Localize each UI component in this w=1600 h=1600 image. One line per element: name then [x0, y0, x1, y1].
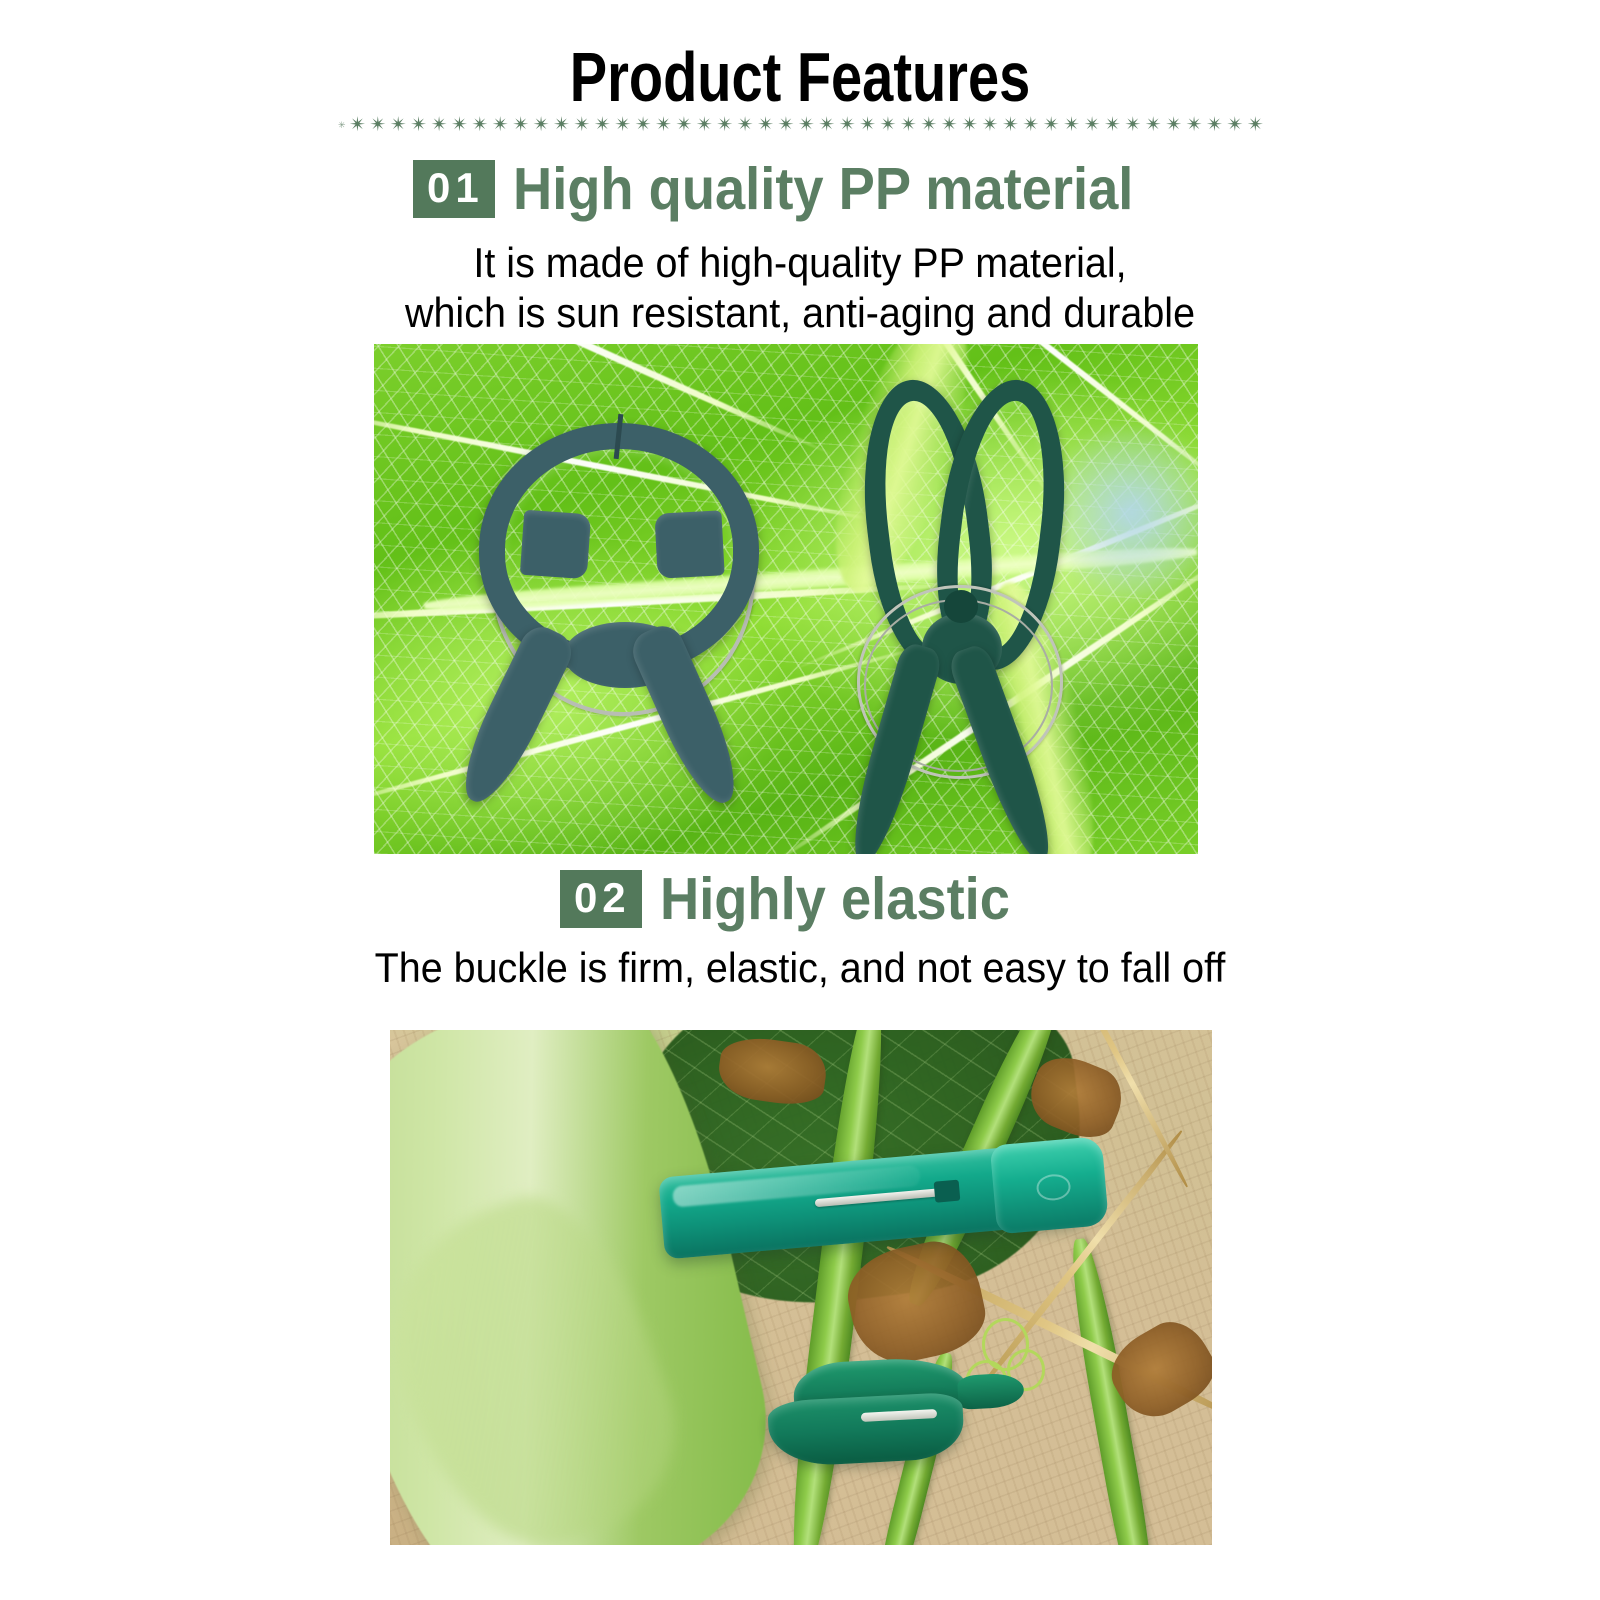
star-leaf-icon: ✴ — [1023, 115, 1040, 135]
star-leaf-icon: ✴ — [737, 115, 754, 135]
feature-01-body-line-2: which is sun resistant, anti-aging and d… — [48, 288, 1552, 338]
star-leaf-icon: ✴ — [1125, 115, 1142, 135]
feature-01-number-badge: 01 — [413, 160, 495, 218]
star-leaf-icon: ✴ — [676, 115, 693, 135]
feature-02-heading: 02 Highly elastic — [0, 868, 1600, 930]
feature-01-body-line-1: It is made of high-quality PP material, — [48, 238, 1552, 288]
closed-plant-clip — [473, 410, 778, 818]
feature-02-heading-text: Highly elastic — [660, 868, 1010, 930]
star-leaf-icon: ✴ — [1084, 115, 1101, 135]
star-leaf-icon: ✳ — [338, 115, 346, 135]
star-leaf-icon: ✴ — [574, 115, 591, 135]
clip-notch-right — [654, 511, 724, 580]
star-leaf-icon: ✴ — [900, 115, 917, 135]
feature-02-number-badge: 02 — [560, 870, 642, 928]
star-leaf-icon: ✴ — [1206, 115, 1223, 135]
green-plant-clip-lower — [765, 1354, 993, 1479]
open-plant-clip — [835, 370, 1099, 839]
star-leaf-icon: ✴ — [798, 115, 815, 135]
star-leaf-icon: ✴ — [349, 115, 366, 135]
star-leaf-icon: ✴ — [512, 115, 529, 135]
product-features-page: Product Features ✳ ✴ ✴ ✴ ✴ ✴ ✴ ✴ ✴ ✴ ✴ ✴… — [0, 0, 1600, 1600]
star-leaf-icon: ✴ — [431, 115, 448, 135]
star-leaf-icon: ✴ — [1063, 115, 1080, 135]
clip-slot — [933, 1179, 960, 1203]
star-leaf-icon: ✴ — [1186, 115, 1203, 135]
star-leaf-icon: ✴ — [533, 115, 550, 135]
star-leaf-icon: ✴ — [941, 115, 958, 135]
star-leaf-icon: ✴ — [757, 115, 774, 135]
star-leaf-icon: ✴ — [553, 115, 570, 135]
star-leaf-icon: ✴ — [778, 115, 795, 135]
clip-lower-jaw — [767, 1391, 965, 1467]
feature-02-body-line-1: The buckle is firm, elastic, and not eas… — [48, 943, 1552, 993]
feature-01-heading: 01 High quality PP material — [0, 158, 1600, 220]
feature-01-heading-text: High quality PP material — [513, 158, 1133, 220]
star-leaf-icon: ✴ — [1104, 115, 1121, 135]
star-leaf-icon: ✴ — [839, 115, 856, 135]
clips-on-vine-in-garden-photo — [390, 1030, 1212, 1545]
feature-02-body: The buckle is firm, elastic, and not eas… — [0, 943, 1600, 993]
star-leaf-icon: ✴ — [1043, 115, 1060, 135]
star-leaf-icon: ✴ — [982, 115, 999, 135]
star-leaf-icon: ✴ — [1145, 115, 1162, 135]
star-leaf-icon: ✴ — [819, 115, 836, 135]
star-leaf-icon: ✴ — [961, 115, 978, 135]
star-leaf-icon: ✴ — [492, 115, 509, 135]
star-leaf-icon: ✴ — [1247, 115, 1264, 135]
star-leaf-icon: ✴ — [1002, 115, 1019, 135]
star-leaf-icon: ✴ — [696, 115, 713, 135]
star-leaf-icon: ✴ — [614, 115, 631, 135]
star-leaf-icon: ✴ — [594, 115, 611, 135]
clip-pivot-dot — [944, 590, 978, 623]
clip-notch-left — [519, 510, 590, 580]
star-leaf-icon: ✴ — [859, 115, 876, 135]
feature-01-body: It is made of high-quality PP material, … — [0, 238, 1600, 338]
star-leaf-icon: ✴ — [880, 115, 897, 135]
star-leaf-icon: ✴ — [655, 115, 672, 135]
star-leaf-icon: ✴ — [410, 115, 427, 135]
star-leaf-icon: ✴ — [390, 115, 407, 135]
star-leaf-icon: ✴ — [1227, 115, 1244, 135]
star-divider: ✳ ✴ ✴ ✴ ✴ ✴ ✴ ✴ ✴ ✴ ✴ ✴ ✴ ✴ ✴ ✴ ✴ ✴ ✴ ✴ … — [338, 112, 1264, 138]
star-leaf-icon: ✴ — [370, 115, 387, 135]
star-leaf-icon: ✴ — [472, 115, 489, 135]
star-leaf-icon: ✴ — [717, 115, 734, 135]
star-leaf-icon: ✴ — [635, 115, 652, 135]
page-title: Product Features — [160, 38, 1440, 116]
clips-on-backlit-leaf-photo — [374, 344, 1198, 854]
star-leaf-icon: ✴ — [1165, 115, 1182, 135]
star-leaf-icon: ✴ — [921, 115, 938, 135]
star-leaf-icon: ✴ — [451, 115, 468, 135]
